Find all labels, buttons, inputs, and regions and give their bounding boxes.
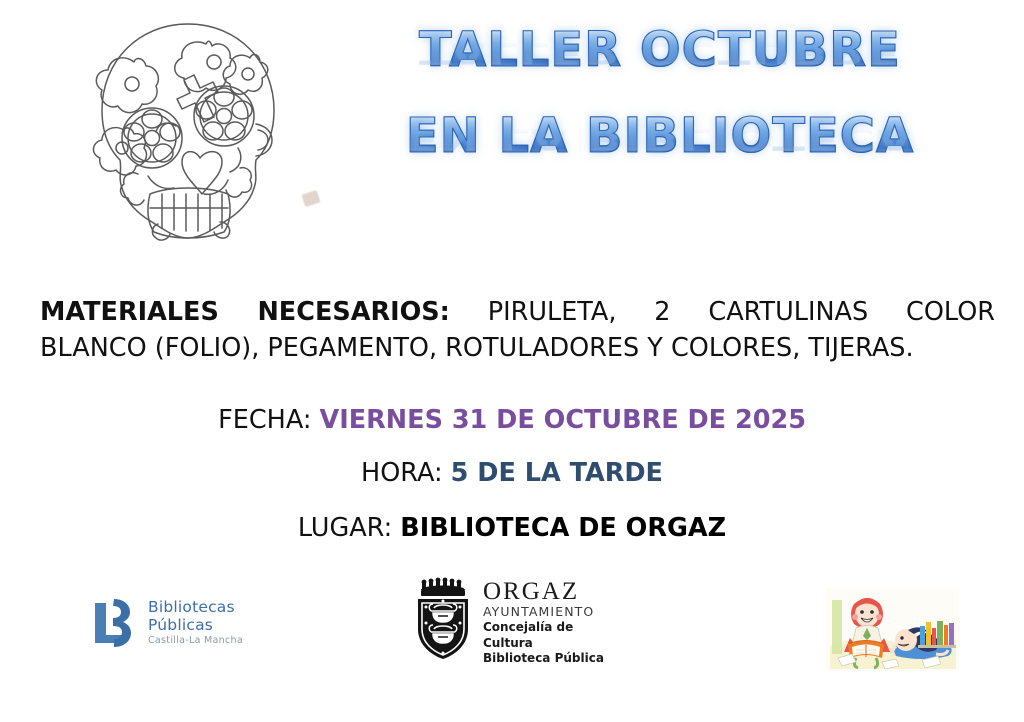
bibliotecas-publicas-logo: Bibliotecas Públicas Castilla-La Mancha	[92, 588, 252, 658]
orgaz-line3: Concejalía de Cultura	[483, 620, 620, 651]
bibliotecas-lb-mark-icon	[92, 597, 140, 649]
title-line-2: EN LA BIBLIOTECA EN LA BIBLIOTECA	[340, 112, 980, 200]
materials-line1-rest: PIRULETA, 2 CARTULINAS COLOR	[488, 297, 995, 327]
materials-colon: :	[440, 297, 450, 327]
detail-line-hora: HORA: 5 DE LA TARDE	[0, 459, 1024, 487]
orgaz-wordmark: ORGAZ AYUNTAMIENTO Concejalía de Cultura…	[483, 571, 620, 666]
bibliotecas-line3: Castilla-La Mancha	[148, 636, 243, 647]
ayuntamiento-orgaz-logo: ORGAZ AYUNTAMIENTO Concejalía de Cultura…	[410, 576, 620, 662]
materials-paragraph: MATERIALES NECESARIOS: PIRULETA, 2 CARTU…	[40, 294, 995, 366]
title-line-1: TALLER OCTUBRE TALLER OCTUBRE	[340, 26, 980, 112]
materials-label: MATERIALES NECESARIOS	[40, 297, 440, 327]
children-reading-illustration	[826, 588, 959, 671]
fecha-value: VIERNES 31 DE OCTUBRE DE 2025	[320, 405, 806, 435]
bibliotecas-line1: Bibliotecas	[148, 599, 243, 616]
poster-canvas: TALLER OCTUBRE TALLER OCTUBRE EN LA BIBL…	[0, 0, 1024, 722]
materials-line2: BLANCO (FOLIO), PEGAMENTO, ROTULADORES Y…	[40, 330, 995, 366]
hora-label: HORA:	[361, 458, 443, 488]
title-line-2-text: EN LA BIBLIOTECA	[406, 112, 914, 160]
title-line-1-text: TALLER OCTUBRE	[419, 26, 901, 74]
sugar-skull-illustration	[88, 18, 288, 263]
hora-value: 5 DE LA TARDE	[451, 458, 663, 488]
orgaz-coat-of-arms-icon	[410, 577, 476, 661]
poster-title: TALLER OCTUBRE TALLER OCTUBRE EN LA BIBL…	[340, 26, 980, 200]
lugar-label: LUGAR:	[298, 513, 392, 543]
fecha-label: FECHA:	[218, 405, 311, 435]
bibliotecas-line2: Públicas	[148, 617, 243, 634]
detail-line-fecha: FECHA: VIERNES 31 DE OCTUBRE DE 2025	[0, 406, 1024, 434]
bibliotecas-wordmark: Bibliotecas Públicas Castilla-La Mancha	[148, 599, 243, 646]
orgaz-line1: ORGAZ	[483, 579, 620, 604]
lugar-value: BIBLIOTECA DE ORGAZ	[400, 513, 726, 543]
orgaz-line4: Biblioteca Pública	[483, 651, 620, 667]
detail-line-lugar: LUGAR: BIBLIOTECA DE ORGAZ	[0, 514, 1024, 542]
orgaz-line2: AYUNTAMIENTO	[483, 604, 620, 620]
image-artifact-speck	[301, 190, 320, 207]
